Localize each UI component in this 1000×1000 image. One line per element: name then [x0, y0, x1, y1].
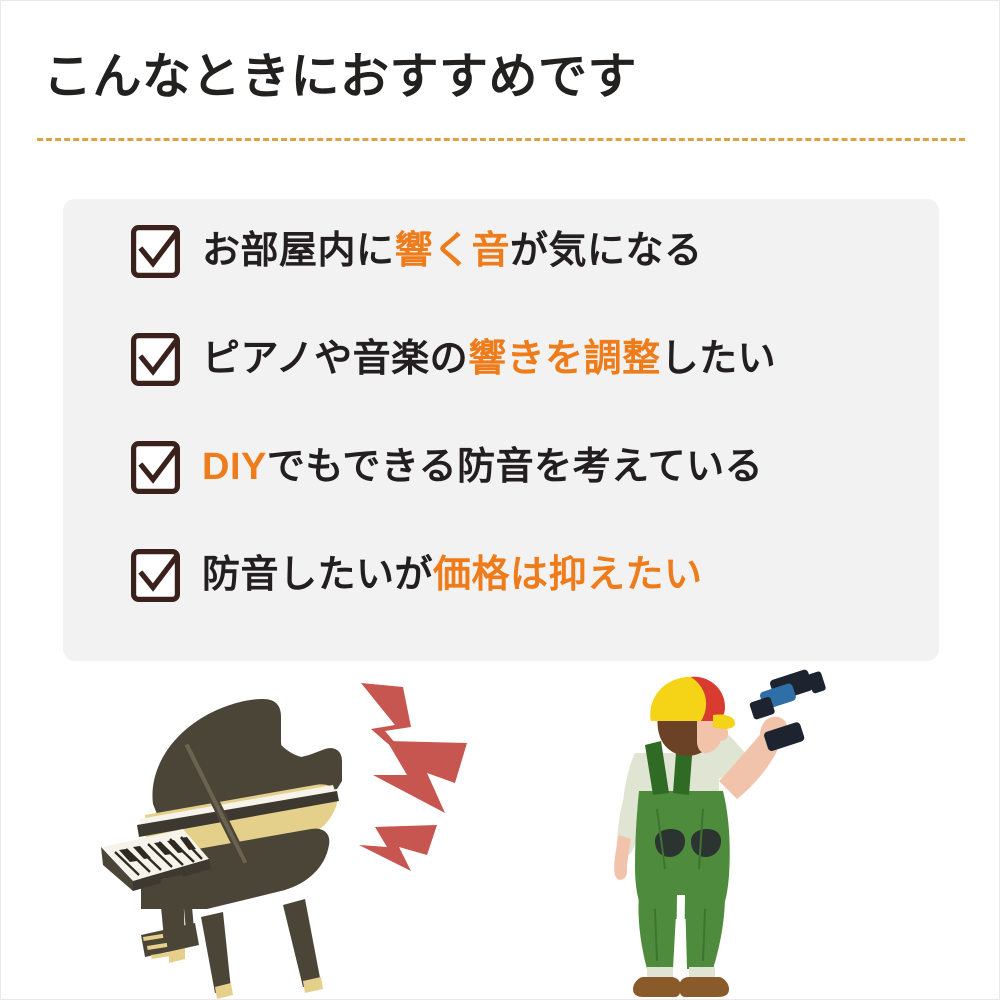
checklist-item-2[interactable]: ピアノや音楽の響きを調整したい [131, 331, 776, 387]
checklist-item-4[interactable]: 防音したいが価格は抑えたい [131, 547, 703, 603]
text-segment-highlight: 響く音 [395, 230, 511, 272]
page-title: こんなときにおすすめです [43, 47, 637, 108]
sound-waves-icon [359, 683, 467, 871]
checklist-item-3[interactable]: DIYでもできる防音を考えている [131, 439, 763, 495]
text-segment: お部屋内に [202, 230, 395, 272]
piano-icon [101, 699, 342, 999]
text-segment: が気になる [510, 230, 703, 272]
checklist-item-label: DIYでもできる防音を考えている [202, 448, 763, 486]
text-segment: でもできる防音を考えている [267, 446, 763, 488]
diy-worker-illustration [573, 669, 833, 999]
grand-piano-illustration [97, 669, 497, 999]
checkbox-checked-icon [131, 549, 180, 602]
dashed-divider [37, 138, 965, 141]
text-segment: したい [661, 338, 777, 380]
text-segment-highlight: 価格は抑えたい [433, 554, 703, 596]
text-segment: 防音したいが [202, 554, 433, 596]
text-segment-highlight: DIY [202, 446, 267, 488]
checklist-item-label: 防音したいが価格は抑えたい [202, 556, 703, 594]
text-segment: ピアノや音楽の [202, 338, 468, 380]
promo-card-page: こんなときにおすすめです お部屋内に響く音が気になる [0, 0, 1000, 1000]
checklist-card: お部屋内に響く音が気になる ピアノや音楽の響きを調整したい [63, 199, 939, 661]
checkbox-checked-icon [131, 441, 180, 494]
checklist-item-label: ピアノや音楽の響きを調整したい [202, 340, 776, 378]
checkbox-checked-icon [131, 225, 180, 278]
checklist-item-1[interactable]: お部屋内に響く音が気になる [131, 223, 703, 279]
checklist-item-label: お部屋内に響く音が気になる [202, 232, 703, 270]
worker-with-drill-icon [614, 669, 826, 997]
checkbox-checked-icon [131, 333, 180, 386]
text-segment-highlight: 響きを調整 [468, 338, 661, 380]
